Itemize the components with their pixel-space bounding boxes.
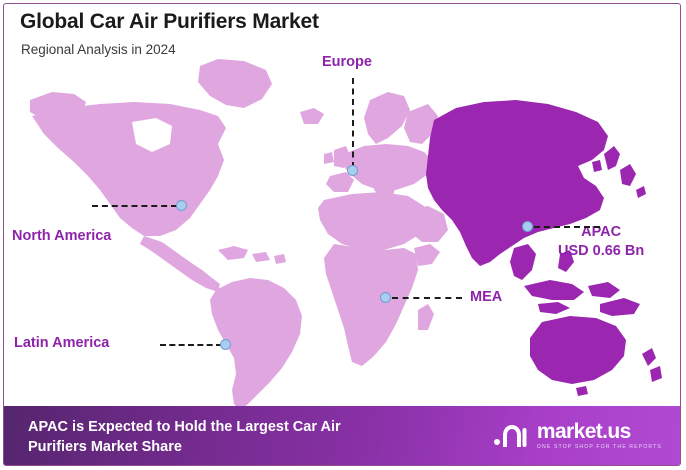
market-us-logo-icon — [493, 421, 529, 451]
region-label-apac-value: USD 0.66 Bn — [558, 242, 644, 261]
connector-mea — [392, 297, 462, 299]
banner-headline-line1: APAC is Expected to Hold the Largest Car… — [28, 417, 341, 437]
marker-latin-america[interactable] — [220, 339, 231, 350]
page-subtitle: Regional Analysis in 2024 — [21, 42, 176, 57]
connector-europe — [352, 78, 354, 168]
infographic-card: Global Car Air Purifiers Market Regional… — [3, 3, 681, 466]
logo-tagline: ONE STOP SHOP FOR THE REPORTS — [537, 443, 662, 451]
connector-apac — [534, 226, 600, 228]
page-title: Global Car Air Purifiers Market — [20, 10, 319, 34]
footer-banner: APAC is Expected to Hold the Largest Car… — [4, 406, 680, 465]
region-label-europe: Europe — [322, 54, 372, 70]
logo-text-block: market.us ONE STOP SHOP FOR THE REPORTS — [537, 421, 662, 451]
brand-logo[interactable]: market.us ONE STOP SHOP FOR THE REPORTS — [493, 418, 662, 454]
region-label-latin-america: Latin America — [14, 335, 109, 351]
banner-headline: APAC is Expected to Hold the Largest Car… — [28, 417, 341, 457]
banner-headline-line2: Purifiers Market Share — [28, 437, 341, 457]
region-label-apac: APAC USD 0.66 Bn — [558, 223, 644, 261]
connector-north-america — [92, 205, 177, 207]
marker-north-america[interactable] — [176, 200, 187, 211]
region-label-north-america: North America — [12, 228, 111, 244]
marker-mea[interactable] — [380, 292, 391, 303]
logo-wordmark: market.us — [537, 421, 662, 442]
region-label-mea: MEA — [470, 289, 502, 305]
connector-latin-america — [160, 344, 222, 346]
marker-europe[interactable] — [347, 165, 358, 176]
marker-apac[interactable] — [522, 221, 533, 232]
